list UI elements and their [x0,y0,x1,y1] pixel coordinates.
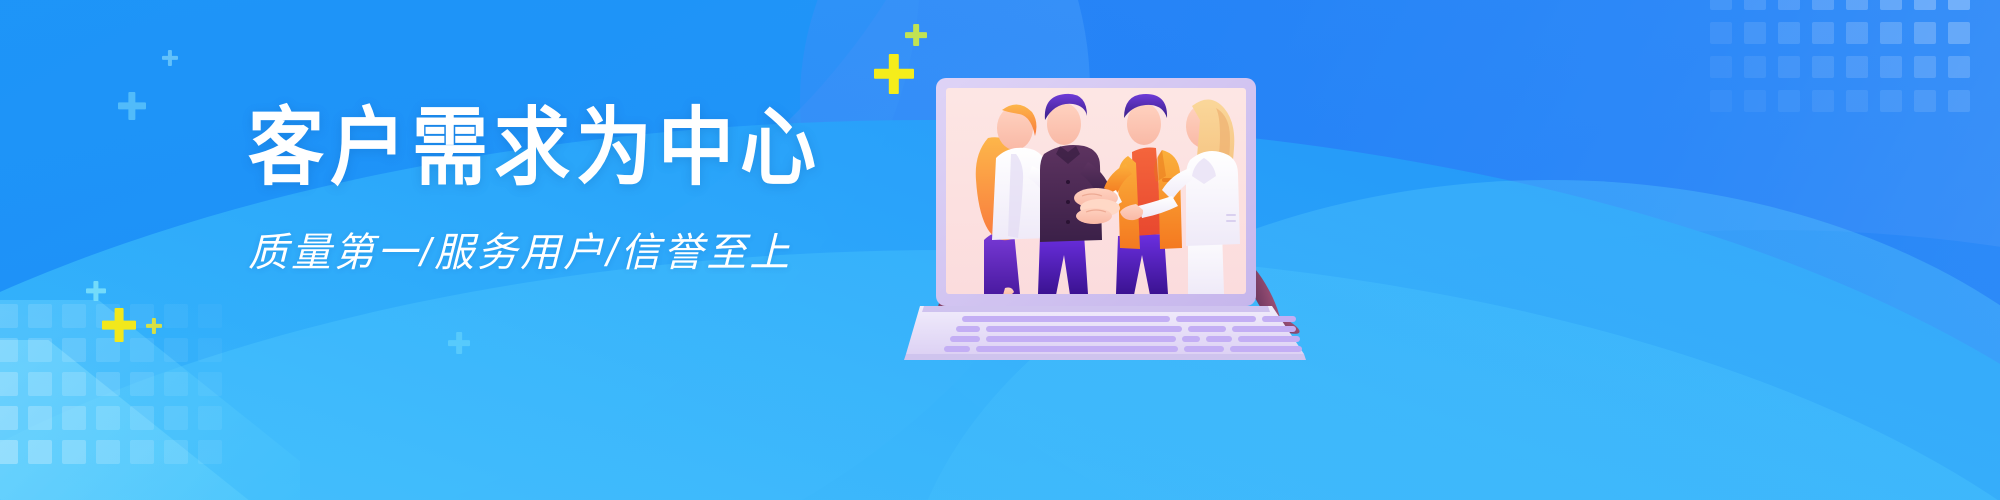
laptop-hinge [922,306,1270,312]
page-title: 客户需求为中心 [248,104,808,193]
laptop-base-edge [904,354,1306,360]
plus-icon-yellow-large [874,54,914,94]
dot-grid-right [1710,0,2000,158]
banner-text-block: 客户需求为中心 质量第一/服务用户/信誉至上 [248,104,808,278]
dot-grid-left [0,304,234,500]
laptop-teamwork-illustration [910,62,1310,362]
laptop-svg [910,62,1310,362]
page-subtitle: 质量第一/服务用户/信誉至上 [248,220,808,278]
plus-icon-cyan-topleft-small [162,50,178,66]
plus-icon-yellow-bottomleft [102,308,136,342]
promo-banner: 客户需求为中心 质量第一/服务用户/信誉至上 [0,0,2000,500]
chevron-shape-2 [0,340,250,500]
chevron-shape-1 [0,300,300,500]
plus-icon-cyan-topleft [118,92,146,120]
plus-icon-yellow-small [905,24,927,46]
plus-icon-cyan-center [448,332,470,354]
plus-icon-yellow-bottomleft-small [146,318,162,334]
plus-icon-cyan-bottomleft [86,281,106,301]
